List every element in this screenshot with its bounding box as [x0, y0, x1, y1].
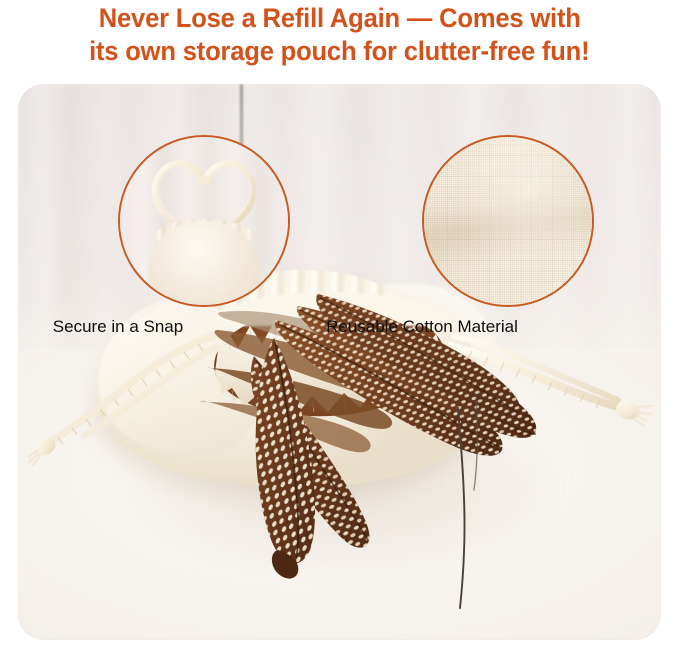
headline-line-1: Never Lose a Refill Again — Comes with	[99, 2, 581, 35]
callout-label-snap: Secure in a Snap	[53, 317, 183, 337]
callout-pouch-body	[148, 221, 260, 307]
callout-ring-cotton	[422, 135, 594, 307]
callout-label-cotton: Reusable Cotton Material	[326, 317, 518, 337]
guinea-fowl-feathers	[158, 290, 618, 630]
headline-block: Never Lose a Refill Again — Comes with i…	[0, 0, 679, 80]
cotton-fabric-shading	[422, 135, 594, 307]
callout-ring-snap	[118, 135, 290, 307]
product-photo: Secure in a Snap Reusable Cotton Materia…	[18, 84, 661, 640]
headline-line-2: its own storage pouch for clutter-free f…	[89, 35, 589, 68]
